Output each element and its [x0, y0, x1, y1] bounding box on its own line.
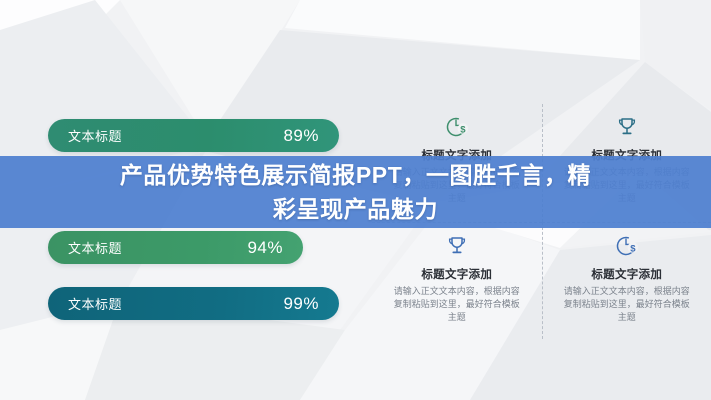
trophy-icon — [444, 231, 470, 261]
feature-card-3-title: 标题文字添加 — [421, 266, 492, 282]
progress-bar-1-label: 文本标题 — [68, 126, 122, 145]
presentation-slide: 文本标题 89% 文本标题 94% 文本标题 99% $ 标题文字添加 — [0, 0, 711, 400]
page-title-line-1: 产品优势特色展示简报PPT，一图胜千言，精 — [0, 158, 711, 192]
svg-text:$: $ — [630, 243, 636, 254]
feature-card-3-body: 请输入正文文本内容，根据内容复制粘贴到这里，最好符合模板主题 — [393, 285, 521, 324]
progress-bar-2-value: 94% — [247, 238, 283, 258]
progress-bar-2-label: 文本标题 — [68, 238, 122, 257]
trophy-icon — [614, 112, 640, 142]
page-title-line-2: 彩呈现产品魅力 — [0, 192, 711, 226]
progress-bar-3-value: 99% — [283, 294, 319, 314]
feature-card-3[interactable]: 标题文字添加 请输入正文文本内容，根据内容复制粘贴到这里，最好符合模板主题 — [372, 222, 542, 340]
svg-text:$: $ — [460, 124, 466, 135]
progress-bar-1-value: 89% — [283, 126, 319, 146]
page-title: 产品优势特色展示简报PPT，一图胜千言，精 彩呈现产品魅力 — [0, 158, 711, 226]
progress-bar-3-label: 文本标题 — [68, 294, 122, 313]
clock-dollar-icon: $ — [614, 231, 640, 261]
progress-bar-1[interactable]: 文本标题 89% — [48, 119, 339, 152]
clock-dollar-icon: $ — [444, 112, 470, 142]
progress-bar-2[interactable]: 文本标题 94% — [48, 231, 303, 264]
feature-card-4-title: 标题文字添加 — [591, 266, 662, 282]
feature-card-4-body: 请输入正文文本内容，根据内容复制粘贴到这里，最好符合模板主题 — [563, 285, 691, 324]
progress-bar-3[interactable]: 文本标题 99% — [48, 287, 339, 320]
feature-card-4[interactable]: $ 标题文字添加 请输入正文文本内容，根据内容复制粘贴到这里，最好符合模板主题 — [542, 222, 711, 340]
